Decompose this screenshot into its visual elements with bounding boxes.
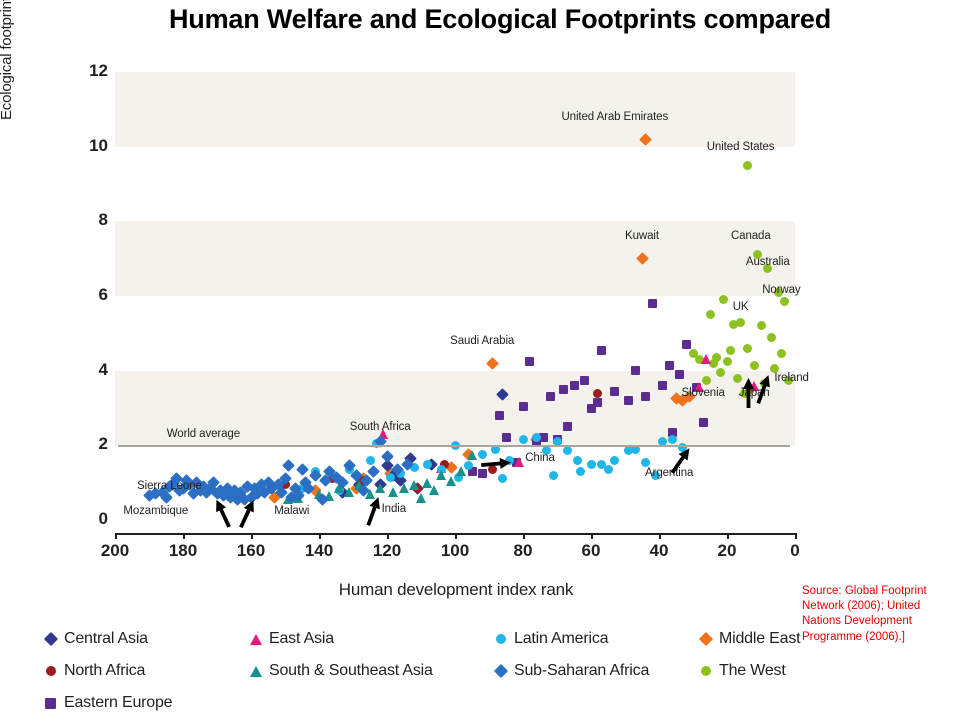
legend-item-south-southeast-asia[interactable]: South & Southeast Asia [249,662,433,680]
data-point [456,466,466,476]
data-point [570,381,579,390]
arrow-japan-icon [742,378,755,408]
data-point [519,402,528,411]
data-point [648,299,657,308]
legend-label: Latin America [514,630,608,648]
data-point [436,470,446,480]
square-marker-icon [44,697,57,710]
data-point [388,487,398,497]
annotation-south-africa: South Africa [350,421,411,433]
data-point [780,297,789,306]
legend-item-middle-east[interactable]: Middle East [699,630,800,648]
x-tick-mark-60 [591,533,593,539]
circle-marker-icon [699,665,712,678]
data-point [777,349,786,358]
data-point [573,456,582,465]
data-point [549,471,558,480]
data-point [546,392,555,401]
data-point [750,361,759,370]
annotation-australia: Australia [746,256,790,268]
diamond-marker-icon [44,633,57,646]
data-point [409,480,419,490]
data-point [729,320,738,329]
data-point [576,467,585,476]
data-point [767,333,776,342]
triangle-marker-icon [249,665,262,678]
y-tick-8: 8 [74,210,108,230]
data-point [502,433,511,442]
x-tick-mark-200 [115,533,117,539]
data-point [743,344,752,353]
data-point [743,161,752,170]
data-point [726,346,735,355]
legend-label: Eastern Europe [64,694,172,712]
y-tick-12: 12 [74,61,108,81]
arrow-china-icon [481,456,512,472]
data-point [624,396,633,405]
data-point [706,310,715,319]
world-average-line [118,445,790,447]
data-point [610,387,619,396]
x-tick-mark-180 [183,533,185,539]
x-tick-0: 0 [770,541,820,561]
x-tick-40: 40 [634,541,684,561]
annotation-united-states: United States [707,141,775,153]
y-tick-4: 4 [74,360,108,380]
x-tick-mark-120 [387,533,389,539]
data-point [375,483,385,493]
annotation-mozambique: Mozambique [123,505,188,517]
data-point [675,370,684,379]
data-point [699,418,708,427]
data-point [423,460,432,469]
annotation-saudi-arabia: Saudi Arabia [450,335,514,347]
annotation-slovenia: Slovenia [682,387,725,399]
data-point [429,485,439,495]
legend-label: The West [719,662,786,680]
legend-item-latin-america[interactable]: Latin America [494,630,608,648]
x-tick-mark-40 [659,533,661,539]
y-tick-0: 0 [74,509,108,529]
data-point [559,385,568,394]
data-point [496,389,509,402]
data-point [631,366,640,375]
legend-label: Middle East [719,630,800,648]
data-point [641,458,650,467]
data-point [610,456,619,465]
x-tick-180: 180 [158,541,208,561]
legend-item-north-africa[interactable]: North Africa [44,662,145,680]
x-tick-140: 140 [294,541,344,561]
data-point [514,457,524,467]
data-point [757,321,766,330]
data-point [587,460,596,469]
data-point [665,361,674,370]
data-point [386,473,395,482]
legend-item-eastern-europe[interactable]: Eastern Europe [44,694,172,712]
legend-label: South & Southeast Asia [269,662,433,680]
data-point [701,354,711,364]
page-title: Human Welfare and Ecological Footprints … [120,4,880,36]
x-tick-80: 80 [498,541,548,561]
x-tick-mark-0 [795,533,797,539]
data-point [733,374,742,383]
legend-label: Sub-Saharan Africa [514,662,649,680]
x-tick-120: 120 [362,541,412,561]
x-tick-mark-20 [727,533,729,539]
annotation-norway: Norway [762,284,800,296]
y-tick-6: 6 [74,285,108,305]
data-point [641,392,650,401]
data-point [668,435,677,444]
annotation-ireland: Ireland [774,372,808,384]
data-point [624,446,633,455]
annotation-sierra-leone: Sierra Leone [137,480,202,492]
data-point [723,357,732,366]
data-point [604,465,613,474]
legend-item-sub-saharan-africa[interactable]: Sub-Saharan Africa [494,662,649,680]
annotation-world-average: World average [167,428,240,440]
x-tick-100: 100 [430,541,480,561]
data-point [446,476,456,486]
diamond-marker-icon [494,665,507,678]
data-point [416,493,426,503]
data-point [658,381,667,390]
data-point [636,252,649,265]
data-point [719,295,728,304]
data-point [399,483,409,493]
data-point [682,340,691,349]
data-point [344,487,354,497]
x-tick-20: 20 [702,541,752,561]
legend-item-central-asia[interactable]: Central Asia [44,630,148,648]
data-point [495,411,504,420]
annotation-uk: UK [733,301,749,313]
annotation-united-arab-emirates: United Arab Emirates [561,111,668,123]
y-axis-label: Ecological footprint (global hectares pe… [0,0,15,120]
x-tick-mark-140 [319,533,321,539]
x-tick-mark-160 [251,533,253,539]
circle-marker-icon [44,665,57,678]
annotation-canada: Canada [731,230,771,242]
y-tick-10: 10 [74,136,108,156]
annotation-kuwait: Kuwait [625,230,659,242]
x-tick-mark-80 [523,533,525,539]
data-point [639,133,652,146]
data-point [587,404,596,413]
data-point [563,446,572,455]
diamond-marker-icon [699,633,712,646]
data-point [486,357,499,370]
data-point [498,474,507,483]
annotation-china: China [525,452,555,464]
legend-item-the-west[interactable]: The West [699,662,786,680]
data-point [366,456,375,465]
data-point [716,368,725,377]
data-point [593,389,602,398]
data-point [519,435,528,444]
annotation-india: India [382,503,406,515]
data-point [597,346,606,355]
data-point [296,463,309,476]
circle-marker-icon [494,633,507,646]
annotation-malawi: Malawi [274,505,309,517]
legend-label: Central Asia [64,630,148,648]
chart-root: Human Welfare and Ecological Footprints … [0,0,960,720]
x-tick-200: 200 [90,541,140,561]
data-point [689,349,698,358]
x-tick-160: 160 [226,541,276,561]
data-point [580,376,589,385]
triangle-marker-icon [249,633,262,646]
legend-item-east-asia[interactable]: East Asia [249,630,334,648]
source-note: Source: Global Footprint Network (2006);… [802,584,952,645]
y-tick-2: 2 [74,434,108,454]
data-point [381,450,394,463]
x-tick-mark-100 [455,533,457,539]
data-point [525,357,534,366]
legend-label: East Asia [269,630,334,648]
legend-label: North Africa [64,662,145,680]
x-axis-label: Human development index rank [115,580,797,600]
data-point [467,450,477,460]
x-tick-60: 60 [566,541,616,561]
data-point [282,459,295,472]
data-point [563,422,572,431]
